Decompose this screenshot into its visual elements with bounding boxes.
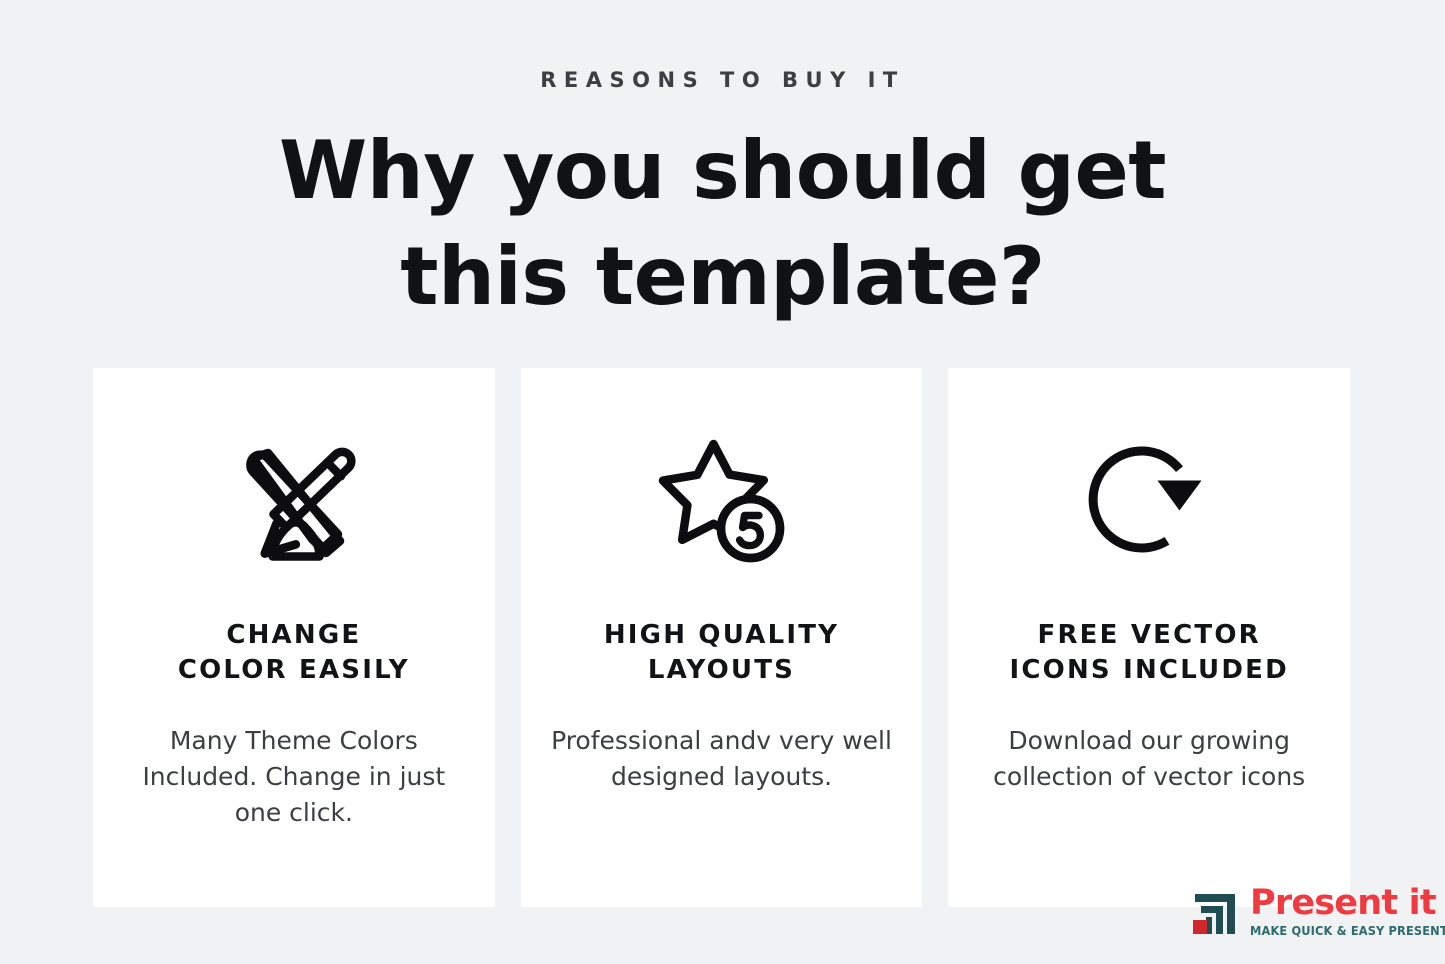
- feature-card-free-icons[interactable]: FREE VECTOR ICONS INCLUDED Download our …: [948, 368, 1350, 907]
- feature-card-title-line-1: CHANGE: [226, 620, 361, 650]
- page-title: Why you should get this template?: [0, 118, 1445, 329]
- brand-wordmark: Present it !: [1250, 887, 1445, 920]
- feature-card-row: CHANGE COLOR EASILY Many Theme Colors In…: [93, 368, 1350, 907]
- pencil-paintbrush-icon: [214, 426, 374, 576]
- feature-card-title-line-1: FREE VECTOR: [1037, 620, 1260, 650]
- eyebrow-text: REASONS TO BUY IT: [0, 68, 1445, 92]
- brand-logo[interactable]: Present it ! MAKE QUICK & EASY PRESENTAT…: [1189, 887, 1427, 943]
- feature-card-title-line-2: COLOR EASILY: [178, 655, 410, 685]
- brand-logo-text: Present it ! MAKE QUICK & EASY PRESENTAT…: [1250, 887, 1445, 938]
- feature-card-title: FREE VECTOR ICONS INCLUDED: [995, 618, 1302, 689]
- feature-card-body: Download our growing collection of vecto…: [948, 723, 1350, 796]
- feature-card-title: CHANGE COLOR EASILY: [164, 618, 424, 689]
- feature-card-title-line-1: HIGH QUALITY: [604, 620, 839, 650]
- feature-card-high-quality[interactable]: HIGH QUALITY LAYOUTS Professional andv v…: [521, 368, 923, 907]
- feature-card-title-line-2: ICONS INCLUDED: [1009, 655, 1288, 685]
- present-it-logo-mark: [1189, 887, 1241, 939]
- feature-card-title: HIGH QUALITY LAYOUTS: [590, 618, 853, 689]
- star-rating-five-icon: [642, 426, 802, 576]
- slide-canvas: REASONS TO BUY IT Why you should get thi…: [0, 0, 1445, 964]
- brand-tagline: MAKE QUICK & EASY PRESENTATIONS: [1250, 923, 1445, 938]
- page-title-line-1: Why you should get: [0, 118, 1445, 224]
- feature-card-body: Many Theme Colors Included. Change in ju…: [93, 723, 495, 832]
- feature-card-body: Professional andv very well designed lay…: [521, 723, 923, 796]
- feature-card-title-line-2: LAYOUTS: [648, 655, 795, 685]
- feature-card-change-color[interactable]: CHANGE COLOR EASILY Many Theme Colors In…: [93, 368, 495, 907]
- page-title-line-2: this template?: [0, 224, 1445, 330]
- circular-arrow-download-icon: [1069, 426, 1229, 576]
